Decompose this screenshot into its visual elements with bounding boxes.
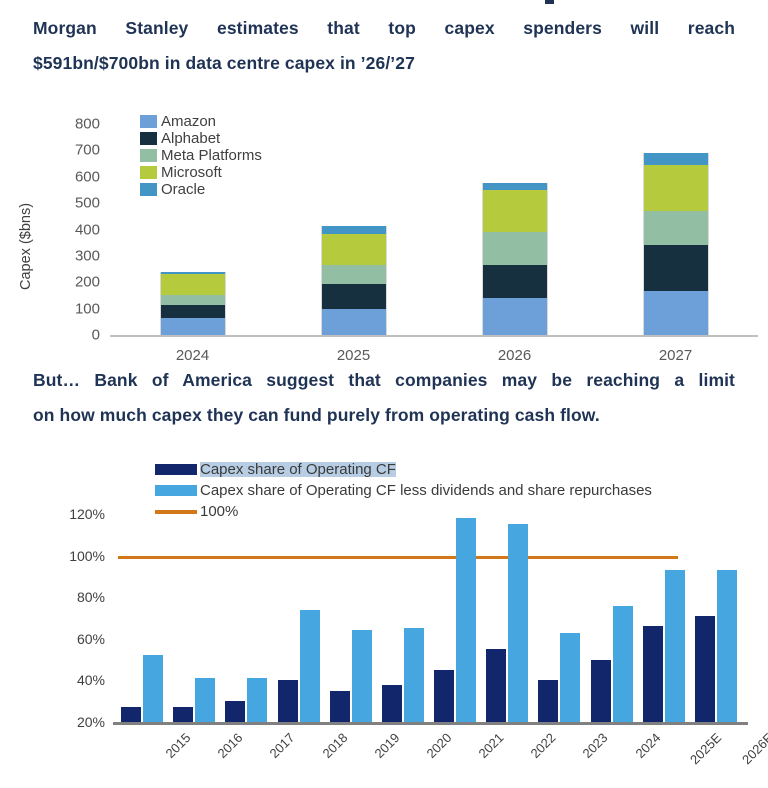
cashflow-bar-operating-cf[interactable] — [434, 670, 454, 722]
cashflow-bar-operating-cf-less-distributions[interactable] — [560, 633, 580, 722]
cashflow-bar-operating-cf[interactable] — [225, 701, 245, 722]
capex-segment-amazon[interactable] — [482, 298, 548, 335]
capex-segment-alphabet[interactable] — [482, 265, 548, 298]
capex-segment-alphabet[interactable] — [321, 284, 387, 308]
narrative-mid-line1: But… Bank of America suggest that compan… — [33, 370, 735, 391]
capex-segment-oracle[interactable] — [321, 226, 387, 234]
cashflow-bar-operating-cf[interactable] — [643, 626, 663, 722]
legend-swatch-icon — [155, 485, 197, 496]
cashflow-legend: Capex share of Operating CFCapex share o… — [155, 459, 652, 522]
cashflow-y-tick: 20% — [0, 715, 105, 729]
cashflow-x-tick: 2024 — [632, 730, 663, 761]
narrative-top-line2: $591bn/$700bn in data centre capex in ’2… — [33, 53, 735, 74]
legend-swatch-icon — [140, 166, 157, 179]
cashflow-bar-operating-cf[interactable] — [278, 680, 298, 722]
capex-legend-label: Meta Platforms — [161, 148, 262, 163]
cashflow-y-tick: 100% — [0, 549, 105, 563]
cashflow-x-tick: 2019 — [371, 730, 402, 761]
cashflow-y-tick: 80% — [0, 590, 105, 604]
capex-x-tick: 2026 — [498, 347, 531, 364]
capex-segment-microsoft[interactable] — [482, 190, 548, 232]
cropped-heading-descender — [545, 0, 554, 4]
cashflow-x-tick: 2022 — [528, 730, 559, 761]
capex-segment-microsoft[interactable] — [643, 165, 709, 211]
capex-x-axis-line — [110, 335, 758, 337]
capex-legend-item[interactable]: Microsoft — [140, 164, 262, 181]
capex-segment-oracle[interactable] — [160, 272, 226, 275]
cashflow-y-tick: 60% — [0, 632, 105, 646]
capex-segment-meta-platforms[interactable] — [482, 232, 548, 264]
cashflow-y-tick: 120% — [0, 507, 105, 521]
narrative-top: Morgan Stanley estimates that top capex … — [33, 18, 735, 88]
cashflow-bar-operating-cf[interactable] — [486, 649, 506, 722]
cashflow-bar-operating-cf[interactable] — [330, 691, 350, 722]
capex-y-tick: 800 — [0, 117, 100, 132]
cashflow-legend-label: Capex share of Operating CF less dividen… — [200, 483, 652, 498]
capex-legend-item[interactable]: Meta Platforms — [140, 147, 262, 164]
capex-stacked-bar[interactable] — [321, 124, 387, 335]
cashflow-bar-operating-cf[interactable] — [121, 707, 141, 722]
capex-legend: AmazonAlphabetMeta PlatformsMicrosoftOra… — [140, 113, 262, 198]
narrative-mid: But… Bank of America suggest that compan… — [33, 370, 735, 440]
cashflow-legend-label-reference: 100% — [200, 504, 238, 519]
cashflow-bar-operating-cf[interactable] — [538, 680, 558, 722]
cashflow-x-tick: 2020 — [423, 730, 454, 761]
capex-x-tick: 2024 — [176, 347, 209, 364]
cashflow-bar-operating-cf-less-distributions[interactable] — [456, 518, 476, 722]
capex-segment-alphabet[interactable] — [160, 305, 226, 319]
cashflow-legend-label: Capex share of Operating CF — [200, 462, 396, 477]
capex-segment-alphabet[interactable] — [643, 245, 709, 291]
cashflow-y-tick: 40% — [0, 673, 105, 687]
cashflow-x-tick: 2026E — [739, 730, 768, 767]
capex-legend-item[interactable]: Amazon — [140, 113, 262, 130]
capex-segment-oracle[interactable] — [643, 153, 709, 165]
capex-segment-meta-platforms[interactable] — [321, 265, 387, 285]
capex-y-tick: 700 — [0, 143, 100, 158]
capex-segment-oracle[interactable] — [482, 183, 548, 190]
cashflow-x-tick: 2017 — [267, 730, 298, 761]
legend-swatch-icon — [140, 115, 157, 128]
capex-legend-label: Microsoft — [161, 165, 222, 180]
cashflow-x-tick: 2025E — [687, 730, 724, 767]
legend-line-icon — [155, 510, 197, 514]
capex-segment-microsoft[interactable] — [321, 234, 387, 265]
capex-y-tick: 600 — [0, 169, 100, 184]
capex-x-tick: 2025 — [337, 347, 370, 364]
legend-swatch-icon — [140, 132, 157, 145]
capex-segment-meta-platforms[interactable] — [643, 211, 709, 245]
cashflow-x-axis-line — [113, 722, 748, 725]
capex-segment-meta-platforms[interactable] — [160, 295, 226, 305]
legend-swatch-icon — [140, 183, 157, 196]
capex-stacked-bar[interactable] — [643, 124, 709, 335]
cashflow-x-tick: 2018 — [319, 730, 350, 761]
capex-segment-amazon[interactable] — [643, 291, 709, 335]
cashflow-x-tick: 2016 — [215, 730, 246, 761]
capex-y-tick: 0 — [0, 328, 100, 343]
capex-y-tick: 400 — [0, 222, 100, 237]
capex-legend-label: Alphabet — [161, 131, 220, 146]
legend-swatch-icon — [155, 464, 197, 475]
cashflow-bar-operating-cf[interactable] — [382, 685, 402, 722]
narrative-top-line1: Morgan Stanley estimates that top capex … — [33, 18, 735, 39]
cashflow-bar-operating-cf-less-distributions[interactable] — [508, 524, 528, 722]
capex-stacked-bar[interactable] — [482, 124, 548, 335]
capex-x-tick: 2027 — [659, 347, 692, 364]
cashflow-bar-operating-cf[interactable] — [173, 707, 193, 722]
cashflow-x-tick: 2023 — [580, 730, 611, 761]
cashflow-bar-operating-cf-less-distributions[interactable] — [247, 678, 267, 722]
capex-y-tick: 100 — [0, 301, 100, 316]
cashflow-bar-operating-cf-less-distributions[interactable] — [352, 630, 372, 722]
capex-segment-microsoft[interactable] — [160, 274, 226, 295]
capex-segment-amazon[interactable] — [321, 309, 387, 335]
cashflow-bar-operating-cf-less-distributions[interactable] — [665, 570, 685, 722]
cashflow-bar-operating-cf-less-distributions[interactable] — [300, 610, 320, 722]
capex-legend-label: Amazon — [161, 114, 216, 129]
cashflow-bar-operating-cf-less-distributions[interactable] — [195, 678, 215, 722]
capex-segment-amazon[interactable] — [160, 318, 226, 335]
narrative-mid-line2: on how much capex they can fund purely f… — [33, 405, 735, 426]
cashflow-legend-item[interactable]: Capex share of Operating CF less dividen… — [155, 480, 652, 501]
cashflow-x-tick: 2015 — [163, 730, 194, 761]
capex-legend-item[interactable]: Oracle — [140, 181, 262, 198]
cashflow-bar-operating-cf-less-distributions[interactable] — [143, 655, 163, 722]
capex-legend-label: Oracle — [161, 182, 205, 197]
cashflow-bar-operating-cf-less-distributions[interactable] — [404, 628, 424, 722]
cashflow-100-percent-reference-line — [118, 556, 678, 559]
cashflow-x-tick: 2021 — [476, 730, 507, 761]
cashflow-bar-operating-cf[interactable] — [695, 616, 715, 722]
capex-y-tick: 500 — [0, 196, 100, 211]
chart-capex-share-of-cash-flow: 20%40%60%80%100%120% 2015201620172018201… — [0, 455, 768, 788]
capex-y-tick: 300 — [0, 248, 100, 263]
chart-capex-stacked: Capex ($bns) 0100200300400500600700800 2… — [0, 105, 768, 363]
legend-swatch-icon — [140, 149, 157, 162]
cashflow-legend-item-reference[interactable]: 100% — [155, 501, 652, 522]
cashflow-legend-item[interactable]: Capex share of Operating CF — [155, 459, 652, 480]
capex-legend-item[interactable]: Alphabet — [140, 130, 262, 147]
cashflow-bar-operating-cf-less-distributions[interactable] — [613, 606, 633, 722]
cashflow-bar-operating-cf-less-distributions[interactable] — [717, 570, 737, 722]
capex-y-tick: 200 — [0, 275, 100, 290]
cashflow-bar-operating-cf[interactable] — [591, 660, 611, 722]
